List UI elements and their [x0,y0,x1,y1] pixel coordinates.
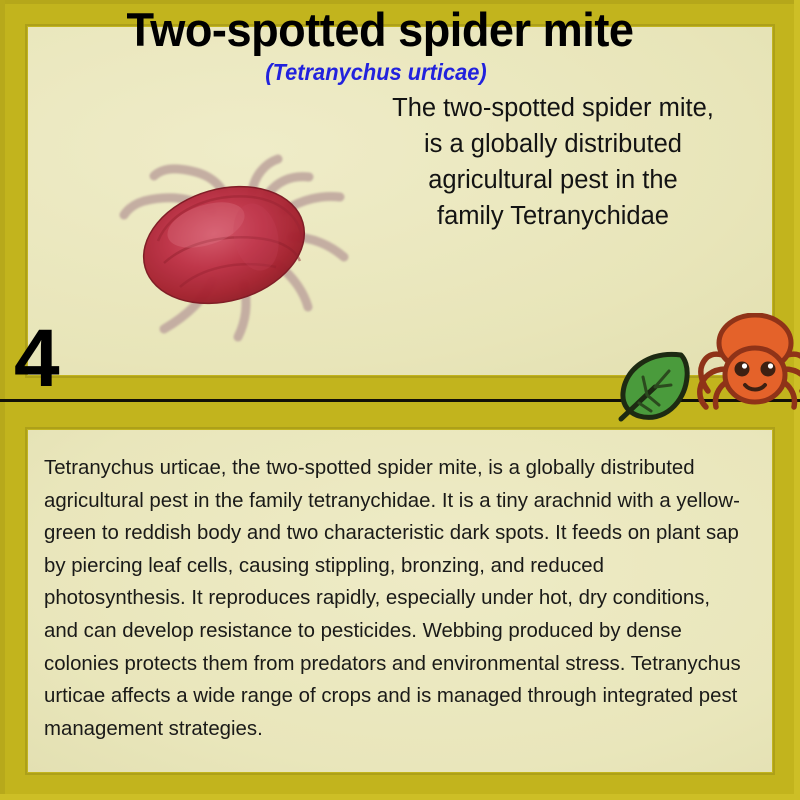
page-title: Two-spotted spider mite [15,2,745,58]
card-index-number: 4 [14,318,60,400]
summary-text: The two-spotted spider mite, is a global… [392,90,714,234]
species-info-card: Two-spotted spider mite (Tetranychus urt… [0,0,800,800]
leaf-icon [603,347,695,427]
cartoon-spider-icon [690,313,800,425]
description-text: Tetranychus urticae, the two-spotted spi… [44,452,744,745]
frame-edge-bottom [0,794,800,800]
mite-illustration [106,145,376,350]
scientific-name: (Tetranychus urticae) [19,58,733,86]
